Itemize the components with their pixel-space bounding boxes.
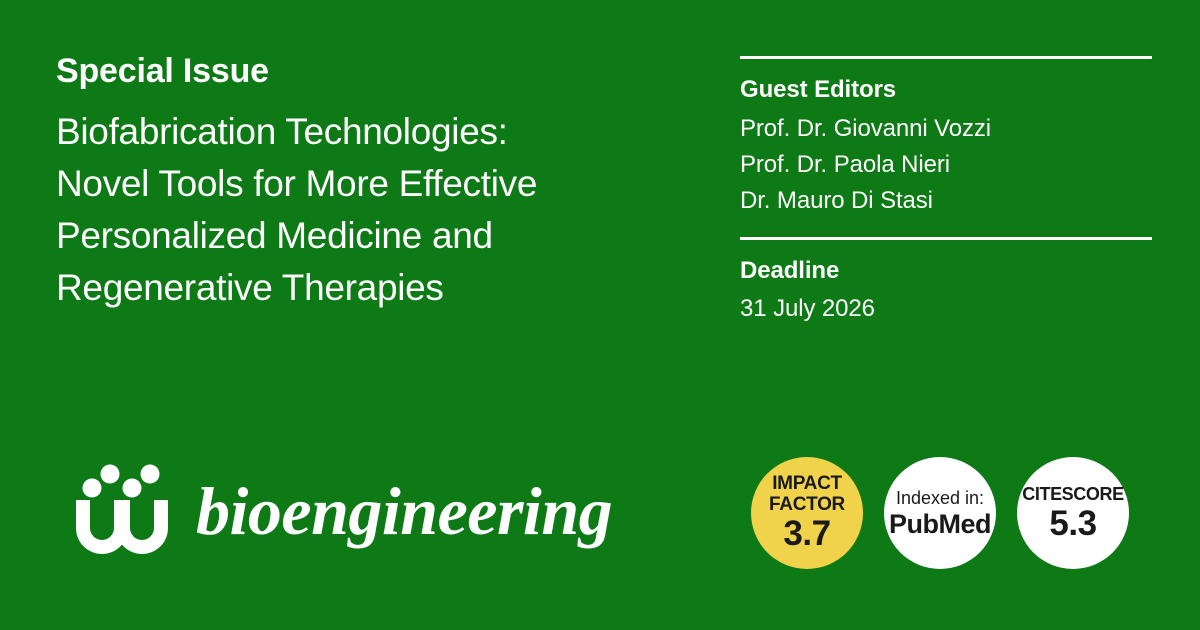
impact-factor-label-line1: IMPACT (772, 473, 842, 494)
journal-wordmark: bioengineering (196, 477, 612, 545)
mdpi-logo-icon (70, 462, 174, 560)
citescore-value: 5.3 (1049, 505, 1096, 543)
deadline-date: 31 July 2026 (740, 292, 1152, 326)
special-issue-kicker: Special Issue (56, 50, 696, 92)
impact-factor-label-line2: FACTOR (769, 494, 845, 515)
left-content-column: Special Issue Biofabrication Technologie… (56, 50, 696, 314)
guest-editors-heading: Guest Editors (740, 73, 1152, 107)
guest-editor-item: Dr. Mauro Di Stasi (740, 183, 1152, 219)
special-issue-title: Biofabrication Technologies: Novel Tools… (56, 106, 696, 314)
divider-middle (740, 237, 1152, 240)
special-issue-poster: Special Issue Biofabrication Technologie… (0, 0, 1200, 630)
pubmed-value: PubMed (889, 509, 991, 539)
guest-editors-list: Prof. Dr. Giovanni Vozzi Prof. Dr. Paola… (740, 111, 1152, 219)
divider-top (740, 56, 1152, 59)
pubmed-badge: Indexed in: PubMed (884, 457, 996, 569)
right-info-column: Guest Editors Prof. Dr. Giovanni Vozzi P… (740, 50, 1152, 326)
guest-editor-item: Prof. Dr. Giovanni Vozzi (740, 111, 1152, 147)
metric-badges: IMPACT FACTOR 3.7 Indexed in: PubMed CIT… (751, 457, 1129, 569)
journal-branding: bioengineering (70, 462, 612, 560)
impact-factor-badge: IMPACT FACTOR 3.7 (751, 457, 863, 569)
pubmed-label: Indexed in: (896, 488, 984, 509)
impact-factor-value: 3.7 (783, 515, 830, 553)
deadline-heading: Deadline (740, 254, 1152, 288)
citescore-badge: CITESCORE 5.3 (1017, 457, 1129, 569)
citescore-label: CITESCORE (1022, 484, 1123, 505)
guest-editor-item: Prof. Dr. Paola Nieri (740, 147, 1152, 183)
